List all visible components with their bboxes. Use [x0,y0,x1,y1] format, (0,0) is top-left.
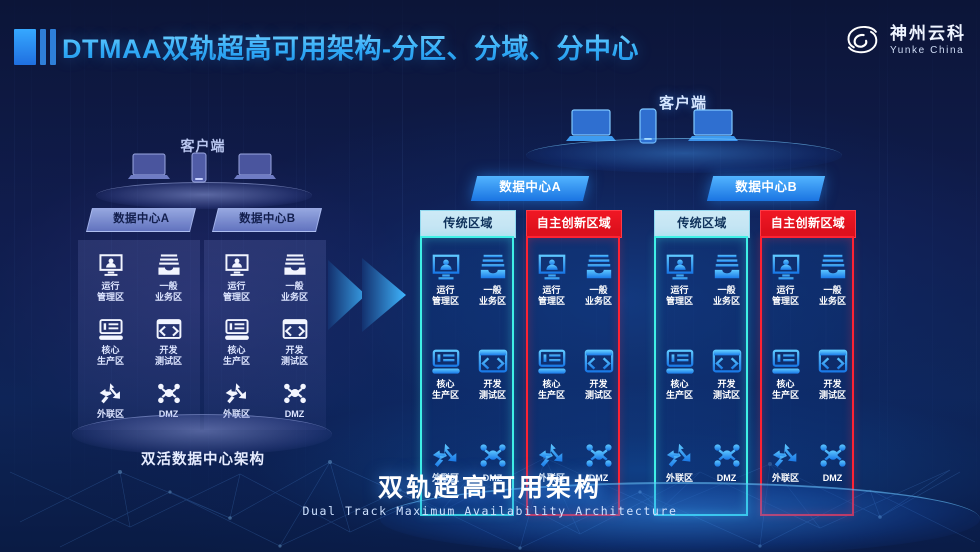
zone-cell: 一般业务区 [575,248,622,306]
zone-label: 一般业务区 [575,285,622,306]
zone-cell: 开发测试区 [264,310,325,366]
ops-monitor-icon [431,252,461,282]
code-window-icon [712,346,742,376]
zone-cell: 外联区 [206,374,267,420]
server-core-icon [537,346,567,376]
zone-label: 开发测试区 [264,345,325,366]
left-datacenter-b-zones: 运行管理区一般业务区核心生产区开发测试区外联区DMZ [204,240,326,430]
inbox-tray-icon [478,252,508,282]
right-client-platform [526,138,842,173]
zone-label: 一般业务区 [703,285,750,306]
zone-cell: 核心生产区 [656,342,703,400]
zone-label: 开发测试区 [469,379,516,400]
zone-cell: 开发测试区 [138,310,199,366]
left-laptop-icon [126,152,172,184]
zone-label: 运行管理区 [528,285,575,306]
zone-cell: 一般业务区 [703,248,750,306]
code-window-icon [818,346,848,376]
header-accent-bars-icon [14,29,56,65]
zone-cell: 运行管理区 [206,246,267,302]
zone-cell: 运行管理区 [656,248,703,306]
code-window-icon [156,316,182,342]
nodes-cluster-icon [156,380,182,406]
zone-label: 核心生产区 [528,379,575,400]
left-datacenter-b-badge: 数据中心B [212,208,322,232]
inbox-tray-icon [584,252,614,282]
server-core-icon [431,346,461,376]
ops-monitor-icon [665,252,695,282]
inbox-tray-icon [712,252,742,282]
code-window-icon [584,346,614,376]
dual-track-architecture-diagram: 客户端 数据中心A 数据中心B 传统区域运行管理区一般业务区核心生产区开发测试区… [398,84,970,504]
network-arrows-icon [224,380,250,406]
zone-cell: 开发测试区 [469,342,516,400]
nodes-cluster-icon [712,440,742,470]
right-datacenter-b-badge: 数据中心B [707,176,825,201]
nodes-cluster-icon [584,440,614,470]
zone-cell: 核心生产区 [206,310,267,366]
zone-label: 开发测试区 [703,379,750,400]
left-phone-icon [190,152,208,184]
zone-cell: 运行管理区 [422,248,469,306]
zone-label: 开发测试区 [575,379,622,400]
zone-cell: 运行管理区 [762,248,809,306]
zone-label: 运行管理区 [762,285,809,306]
brand-name-en: Yunke China [890,46,966,56]
zone-label: 核心生产区 [656,379,703,400]
network-arrows-icon [537,440,567,470]
zone-cell: DMZ [264,374,325,420]
zone-cell: 外联区 [80,374,141,420]
left-caption: 双活数据中心架构 [78,448,328,469]
zone-cell: 核心生产区 [528,342,575,400]
brand-name-cn: 神州云科 [890,25,966,42]
zone-cell: 一般业务区 [809,248,856,306]
innovation-zone-header: 自主创新区域 [760,210,856,238]
server-core-icon [771,346,801,376]
server-core-icon [98,316,124,342]
zone-cell: 开发测试区 [703,342,750,400]
zone-label: 开发测试区 [809,379,856,400]
zone-label: 核心生产区 [422,379,469,400]
inbox-tray-icon [156,252,182,278]
zone-cell: 一般业务区 [264,246,325,302]
zone-cell: 核心生产区 [762,342,809,400]
bottom-title: 双轨超高可用架构 [0,468,980,504]
nodes-cluster-icon [478,440,508,470]
zone-cell: 核心生产区 [422,342,469,400]
brand-logo: 神州云科 Yunke China [842,22,966,58]
nodes-cluster-icon [818,440,848,470]
zone-label: 核心生产区 [206,345,267,366]
zone-cell: 一般业务区 [469,248,516,306]
left-laptop2-icon [232,152,278,184]
zone-label: 一般业务区 [264,281,325,302]
zone-cell: DMZ [138,374,199,420]
zone-label: 一般业务区 [469,285,516,306]
page-title: DTMAA双轨超高可用架构-分区、分域、分中心 [62,27,639,66]
traditional-zone-header: 传统区域 [420,210,516,238]
galaxy-spiral-icon [842,22,882,58]
zone-label: 核心生产区 [80,345,141,366]
network-arrows-icon [771,440,801,470]
zone-cell: 运行管理区 [528,248,575,306]
network-arrows-icon [665,440,695,470]
left-client-platform [96,182,312,209]
network-arrows-icon [431,440,461,470]
ops-monitor-icon [771,252,801,282]
zone-label: 开发测试区 [138,345,199,366]
traditional-zone-header: 传统区域 [654,210,750,238]
server-core-icon [665,346,695,376]
network-arrows-icon [98,380,124,406]
left-datacenter-a-badge: 数据中心A [86,208,196,232]
zone-label: 运行管理区 [656,285,703,306]
innovation-zone-header: 自主创新区域 [526,210,622,238]
zone-label: 核心生产区 [762,379,809,400]
right-datacenter-a-badge: 数据中心A [471,176,589,201]
zone-label: 一般业务区 [138,281,199,302]
left-datacenter-a-zones: 运行管理区一般业务区核心生产区开发测试区外联区DMZ [78,240,200,430]
server-core-icon [224,316,250,342]
slide-header: DTMAA双轨超高可用架构-分区、分域、分中心 神州云科 Yunke China [0,0,980,84]
bottom-subtitle: Dual Track Maximum Availability Architec… [0,504,980,518]
code-window-icon [478,346,508,376]
zone-cell: 开发测试区 [809,342,856,400]
zone-cell: 开发测试区 [575,342,622,400]
slide-canvas: DTMAA双轨超高可用架构-分区、分域、分中心 神州云科 Yunke China… [0,0,980,552]
ops-monitor-icon [224,252,250,278]
inbox-tray-icon [818,252,848,282]
zone-label: 运行管理区 [206,281,267,302]
ops-monitor-icon [98,252,124,278]
zone-label: 运行管理区 [422,285,469,306]
inbox-tray-icon [282,252,308,278]
zone-label: 运行管理区 [80,281,141,302]
zone-cell: 运行管理区 [80,246,141,302]
nodes-cluster-icon [282,380,308,406]
legacy-architecture-diagram: 客户端 数据中心A 数据中心B 运行管理区一般业务区核心生产区开发测试区外联区D… [78,96,328,466]
zone-cell: 核心生产区 [80,310,141,366]
ops-monitor-icon [537,252,567,282]
zone-label: 一般业务区 [809,285,856,306]
zone-cell: 一般业务区 [138,246,199,302]
right-client-label: 客户端 [508,92,858,113]
code-window-icon [282,316,308,342]
